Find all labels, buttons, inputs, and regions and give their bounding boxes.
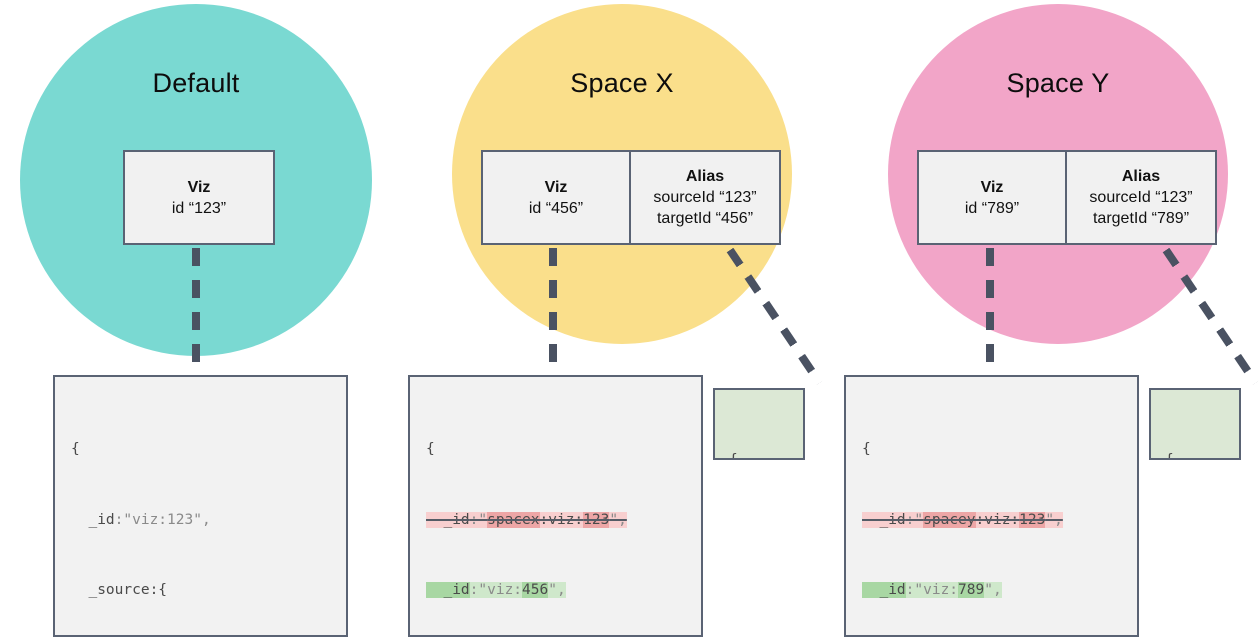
entity-attr: id “456” [529, 198, 583, 219]
connector-spacey-viz-to-doc [986, 248, 994, 382]
code-block-spacey-alias-doc: { ... } [1149, 388, 1241, 460]
code-block-spacex-doc: { _id:"spacex:viz:123", _id:"viz:456", _… [408, 375, 703, 637]
connector-spacey-alias-to-doc [1163, 248, 1259, 385]
code-span: :" [470, 512, 487, 528]
diagram-canvas: Default Space X Space Y Viz id “123” Viz… [0, 0, 1260, 642]
entity-attr: id “123” [172, 198, 226, 219]
code-line: { [426, 438, 685, 462]
code-block-default-doc: { _id:"viz:123", _source:{ viz:{ title:"… [53, 375, 348, 637]
code-line-inserted: _id:"viz:456", [426, 579, 685, 603]
diff-delete: _id:"spacex:viz:123", [426, 512, 627, 528]
code-block-spacey-doc: { _id:"spacey:viz:123", _id:"viz:789", _… [844, 375, 1139, 637]
code-span: spacex [487, 512, 539, 528]
entity-attr: id “789” [965, 198, 1019, 219]
code-span: _id [862, 582, 906, 598]
code-block-spacex-alias-doc: { ... } [713, 388, 805, 460]
code-span: :viz: [540, 512, 584, 528]
code-line: { [1165, 449, 1225, 460]
space-title-spacey: Space Y [888, 68, 1228, 99]
entity-alias-spacex[interactable]: Alias sourceId “123” targetId “456” [629, 152, 779, 243]
code-span: :" [906, 512, 923, 528]
entity-group-spacex: Viz id “456” Alias sourceId “123” target… [481, 150, 781, 245]
code-span: ", [548, 582, 565, 598]
diff-delete: _id:"spacey:viz:123", [862, 512, 1063, 528]
entity-attr-sourceid: sourceId “123” [1089, 187, 1192, 208]
code-span: :"viz: [470, 582, 522, 598]
code-line-deleted: _id:"spacex:viz:123", [426, 509, 685, 533]
code-span: _id [426, 512, 470, 528]
entity-attr-sourceid: sourceId “123” [653, 187, 756, 208]
connector-default-viz-to-doc [192, 248, 200, 384]
code-span: :viz: [976, 512, 1020, 528]
entity-attr-targetid: targetId “456” [657, 208, 753, 229]
code-span: ", [609, 512, 626, 528]
entity-alias-spacey[interactable]: Alias sourceId “123” targetId “789” [1065, 152, 1215, 243]
entity-name: Viz [188, 177, 211, 198]
connector-spacex-viz-to-doc [549, 248, 557, 382]
code-span: 456 [522, 582, 548, 598]
space-title-spacex: Space X [452, 68, 792, 99]
space-title-default: Default [20, 68, 372, 99]
entity-viz-spacex[interactable]: Viz id “456” [483, 152, 629, 243]
entity-group-default: Viz id “123” [123, 150, 275, 245]
code-line: { [862, 438, 1121, 462]
code-line: _id:"viz:123", [71, 509, 330, 533]
entity-viz-spacey[interactable]: Viz id “789” [919, 152, 1065, 243]
code-span: 123 [1019, 512, 1045, 528]
code-span: :"viz:123", [115, 512, 211, 528]
code-span: _id [862, 512, 906, 528]
code-span: _id [71, 512, 115, 528]
code-span: :"viz: [906, 582, 958, 598]
diff-insert: _id:"viz:456", [426, 582, 566, 598]
code-line-deleted: _id:"spacey:viz:123", [862, 509, 1121, 533]
code-line: { [71, 438, 330, 462]
entity-name: Alias [686, 166, 724, 187]
entity-attr-targetid: targetId “789” [1093, 208, 1189, 229]
code-line-inserted: _id:"viz:789", [862, 579, 1121, 603]
entity-name: Alias [1122, 166, 1160, 187]
code-span: spacey [923, 512, 975, 528]
connector-spacex-alias-to-doc [727, 248, 823, 385]
entity-group-spacey: Viz id “789” Alias sourceId “123” target… [917, 150, 1217, 245]
entity-name: Viz [981, 177, 1004, 198]
entity-name: Viz [545, 177, 568, 198]
code-span: 789 [958, 582, 984, 598]
code-line: _source:{ [71, 579, 330, 603]
code-line: { [729, 449, 789, 460]
entity-viz-default[interactable]: Viz id “123” [125, 152, 273, 243]
diff-insert: _id:"viz:789", [862, 582, 1002, 598]
code-span: ", [1045, 512, 1062, 528]
code-span: 123 [583, 512, 609, 528]
code-span: ", [984, 582, 1001, 598]
code-span: _id [426, 582, 470, 598]
